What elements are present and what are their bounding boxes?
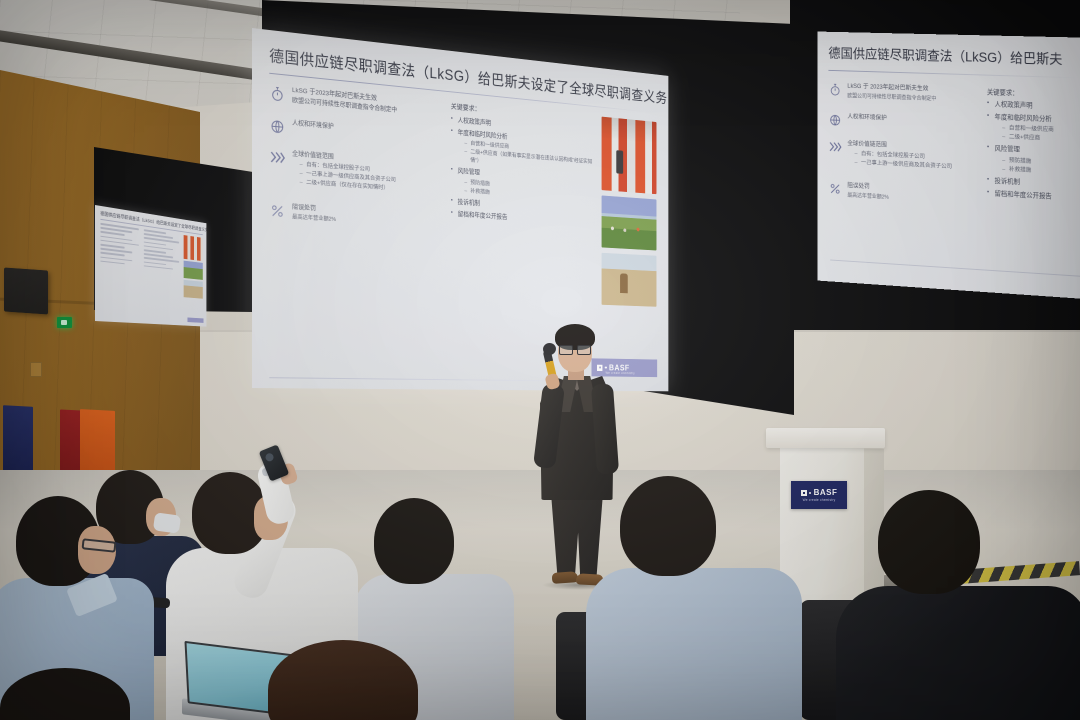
left-slide-col-1 [100,223,141,294]
right-slide: 德国供应链尽职调查法（LkSG）给巴斯夫 LkSG 于 2023年起对巴斯夫生效… [818,32,1080,300]
right-slide-requirements-column: 关键要求： 人权政策声明 年度和临时风险分析 自营和一级供应商 二级+供应商 风… [987,86,1080,225]
audience-member-black-shirt [850,490,1080,720]
right-penalty-heading: 阻误处罚 [847,182,869,190]
slide-section-timing: LkSG 于2023年起对巴斯夫生效 欧盟公司可持续性尽职调查指令合制定中 [269,84,442,120]
audience-body [836,586,1080,720]
right-slide-rule [828,70,1077,78]
audience-member-blue-shirt [596,476,796,720]
right-human-rights-line: 人权和环境保护 [847,112,886,129]
left-slide-basf-logo [187,317,203,322]
right-penalty-text: 阻误处罚 最高达年营业额2% [847,181,888,202]
human-rights-line: 人权和环境保护 [292,119,334,140]
chevrons-right-icon [828,139,842,154]
chevrons-right-icon [269,149,285,167]
green-field-photo [602,195,657,250]
stopwatch-icon [269,85,285,103]
left-slide-col-2 [144,229,182,297]
left-slide-thumbnails [184,235,203,299]
wall-outlet-icon [30,362,42,377]
right-penalty-detail: 最高达年营业额2% [847,192,888,200]
podium-basf-tagline: We create chemistry [803,498,836,502]
requirement-3-text: 风险管理 [458,168,480,176]
right-section-penalty: 阻误处罚 最高达年营业额2% [828,180,975,207]
right-projection-screen: 德国供应链尽职调查法（LkSG）给巴斯夫 LkSG 于 2023年起对巴斯夫生效… [818,32,1080,300]
penalty-text: 阻误处罚 最高达年营业额2% [292,203,336,225]
podium-top [766,428,885,448]
desert-worker-photo [602,253,657,307]
presentation-hall-scene: 德国供应链尽职调查法（LkSG）给巴斯夫设定了全球尽职调查义务 [0,0,1080,720]
main-slide-image-column [602,117,657,307]
main-slide-requirements-column: 关键要求： 人权政策声明 年度和临时风险分析 自营和一级供应商 二级+供应商（如… [451,102,594,305]
right-value-chain-subitems: 自有：包括全球控股子公司 一己事上游一级供应商及其合资子公司 [855,150,952,172]
right-slide-footer-rule [830,260,1080,278]
wall-speaker-icon [4,267,48,314]
penalty-heading: 阻误处罚 [292,204,316,212]
audience-head [374,498,454,584]
speaker-shoe-left [552,571,579,584]
requirements-list: 人权政策声明 年度和临时风险分析 自营和一级供应商 二级+供应商（如果有事实显示… [451,116,594,229]
podium-basf-plaque: BASF We create chemistry [791,481,847,509]
right-timing-text: LkSG 于 2023年起对巴斯夫生效 欧盟公司可持续性尽职调查指令合制定中 [847,82,936,104]
right-value-chain-text: 全球价值链范围 自有：包括全球控股子公司 一己事上游一级供应商及其合资子公司 [847,139,952,175]
percent-icon [269,202,285,220]
left-projection-screen: 德国供应链尽职调查法（LkSG）给巴斯夫设定了全球尽职调查义务 [95,205,206,327]
stopwatch-icon [828,82,842,97]
thumb-desert-icon [184,280,203,299]
glasses-icon [559,345,591,353]
right-slide-title: 德国供应链尽职调查法（LkSG）给巴斯夫 [828,42,1080,68]
slide-section-penalty: 阻误处罚 最高达年营业额2% [269,201,442,231]
shipping-containers-photo [602,117,657,195]
left-slide: 德国供应链尽职调查法（LkSG）给巴斯夫设定了全球尽职调查义务 [95,205,206,327]
penalty-detail: 最高达年营业额2% [292,214,336,223]
basf-square-icon [801,490,807,496]
audience-head [620,476,716,576]
right-slide-left-column: LkSG 于 2023年起对巴斯夫生效 欧盟公司可持续性尽职调查指令合制定中 人… [828,81,975,218]
exit-sign-icon [57,317,72,328]
thumb-containers-icon [184,235,203,261]
right-timing-line-2: 欧盟公司可持续性尽职调查指令合制定中 [847,93,936,102]
right-requirement-3-subitems: 预防措施 补救措施 [1002,157,1080,179]
audience-head [268,640,418,720]
value-chain-text: 全球价值链范围 自有：包括全球控股子公司 一己事上游一级供应商及其合资子公司 二… [292,149,396,196]
right-requirement-2-sub-2: 二级+供应商 [1002,133,1080,145]
right-requirement-3-text: 风险管理 [995,146,1020,154]
thumb-field-icon [184,261,203,280]
right-requirement-3: 风险管理 预防措施 补救措施 [987,145,1080,179]
right-requirement-2-text: 年度和临时风险分析 [995,114,1052,123]
right-requirements-heading: 关键要求： [987,86,1080,99]
right-section-timing: LkSG 于 2023年起对巴斯夫生效 欧盟公司可持续性尽职调查指令合制定中 [828,81,975,105]
podium-basf-wordmark: BASF [814,488,838,497]
slide-section-human-rights: 人权和环境保护 [269,117,442,149]
basf-dot-icon [809,492,811,494]
audience-member-brown-hair [268,640,418,720]
audience-head [878,490,980,594]
slide-section-value-chain: 全球价值链范围 自有：包括全球控股子公司 一己事上游一级供应商及其合资子公司 二… [269,148,442,200]
requirement-2-text: 年度和临时风险分析 [458,129,508,140]
audience-body [586,568,802,720]
right-timing-line-1: LkSG 于 2023年起对巴斯夫生效 [847,83,928,92]
globe-icon [269,118,285,136]
slide-section-timing-text: LkSG 于2023年起对巴斯夫生效 欧盟公司可持续性尽职调查指令合制定中 [292,86,397,116]
right-requirement-5: 留档和年度公开报告 [987,189,1080,205]
globe-icon [828,113,842,128]
audience-head [0,668,130,720]
right-requirement-2: 年度和临时风险分析 自营和一级供应商 二级+供应商 [987,113,1080,146]
timing-line-2: 欧盟公司可持续性尽职调查指令合制定中 [292,97,397,114]
right-requirements-list: 人权政策声明 年度和临时风险分析 自营和一级供应商 二级+供应商 风险管理 预防 [987,100,1080,205]
percent-icon [828,181,842,196]
value-chain-subitems: 自有：包括全球控股子公司 一己事上游一级供应商及其合资子公司 二级+供应商（仅在… [300,161,396,194]
plaque-logo-row: BASF [801,488,838,497]
audience-member-front-left [0,668,130,720]
value-chain-heading: 全球价值链范围 [292,150,334,160]
right-requirement-2-subitems: 自营和一级供应商 二级+供应商 [1002,125,1080,146]
right-section-human-rights: 人权和环境保护 [828,112,975,133]
right-section-value-chain: 全球价值链范围 自有：包括全球控股子公司 一己事上游一级供应商及其合资子公司 [828,138,975,175]
right-value-chain-heading: 全球价值链范围 [847,140,886,148]
main-slide-left-column: LkSG 于2023年起对巴斯夫生效 欧盟公司可持续性尽职调查指令合制定中 人权… [269,84,442,299]
